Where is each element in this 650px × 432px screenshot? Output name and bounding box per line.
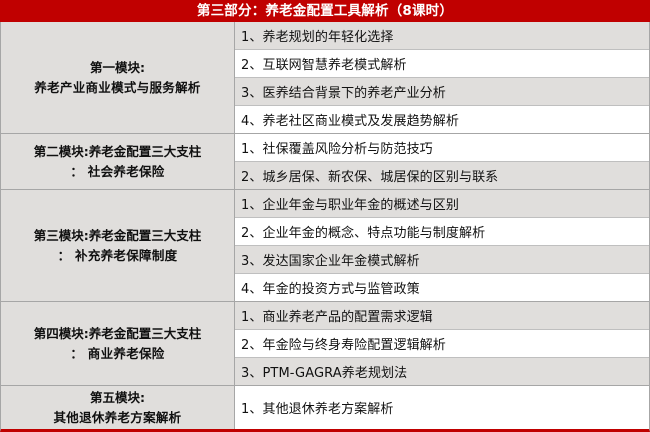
- module-label-line-1: 第四模块:养老金配置三大支柱: [34, 324, 202, 343]
- topic-text: 3、发达国家企业年金模式解析: [241, 250, 420, 269]
- topic-row: 2、年金险与终身寿险配置逻辑解析: [235, 330, 649, 358]
- topic-row: 3、发达国家企业年金模式解析: [235, 246, 649, 274]
- topic-text: 1、商业养老产品的配置需求逻辑: [241, 306, 433, 325]
- topic-text: 3、PTM-GAGRA养老规划法: [241, 362, 407, 381]
- module-topic-list: 1、社保覆盖风险分析与防范技巧2、城乡居保、新农保、城居保的区别与联系: [235, 134, 649, 189]
- topic-row: 4、年金的投资方式与监管政策: [235, 274, 649, 301]
- module-topic-list: 1、企业年金与职业年金的概述与区别2、企业年金的概念、特点功能与制度解析3、发达…: [235, 190, 649, 301]
- module-label-line-1: 第三模块:养老金配置三大支柱: [34, 226, 202, 245]
- module-label-line-1: 第二模块:养老金配置三大支柱: [34, 142, 202, 161]
- module-label-cell: 第三模块:养老金配置三大支柱： 补充养老保障制度: [1, 190, 235, 301]
- section-title-banner: 第三部分：养老金配置工具解析（8课时）: [0, 0, 650, 22]
- module-block: 第一模块:养老产业商业模式与服务解析1、养老规划的年轻化选择2、互联网智慧养老模…: [1, 22, 649, 134]
- topic-row: 1、养老规划的年轻化选择: [235, 22, 649, 50]
- topic-row: 1、社保覆盖风险分析与防范技巧: [235, 134, 649, 162]
- module-label-line-2: ： 商业养老保险: [70, 344, 164, 363]
- topic-text: 3、医养结合背景下的养老产业分析: [241, 82, 446, 101]
- topic-row: 3、PTM-GAGRA养老规划法: [235, 358, 649, 385]
- topic-text: 2、城乡居保、新农保、城居保的区别与联系: [241, 166, 498, 185]
- module-block: 第二模块:养老金配置三大支柱： 社会养老保险1、社保覆盖风险分析与防范技巧2、城…: [1, 134, 649, 190]
- module-label-line-2: 养老产业商业模式与服务解析: [34, 78, 200, 97]
- topic-row: 1、商业养老产品的配置需求逻辑: [235, 302, 649, 330]
- topic-text: 1、其他退休养老方案解析: [241, 398, 393, 417]
- module-label-cell: 第五模块:其他退休养老方案解析: [1, 386, 235, 429]
- topic-text: 4、养老社区商业模式及发展趋势解析: [241, 110, 459, 129]
- module-block: 第三模块:养老金配置三大支柱： 补充养老保障制度1、企业年金与职业年金的概述与区…: [1, 190, 649, 302]
- topic-text: 2、年金险与终身寿险配置逻辑解析: [241, 334, 446, 353]
- module-topic-list: 1、商业养老产品的配置需求逻辑2、年金险与终身寿险配置逻辑解析3、PTM-GAG…: [235, 302, 649, 385]
- topic-row: 2、城乡居保、新农保、城居保的区别与联系: [235, 162, 649, 189]
- module-label-line-2: 其他退休养老方案解析: [53, 408, 181, 427]
- topic-text: 1、养老规划的年轻化选择: [241, 26, 393, 45]
- topic-row: 1、企业年金与职业年金的概述与区别: [235, 190, 649, 218]
- module-label-cell: 第四模块:养老金配置三大支柱： 商业养老保险: [1, 302, 235, 385]
- topic-row: 2、互联网智慧养老模式解析: [235, 50, 649, 78]
- topic-text: 2、企业年金的概念、特点功能与制度解析: [241, 222, 485, 241]
- topic-text: 4、年金的投资方式与监管政策: [241, 278, 420, 297]
- module-label-cell: 第二模块:养老金配置三大支柱： 社会养老保险: [1, 134, 235, 189]
- course-outline-table: 第三部分：养老金配置工具解析（8课时） 第一模块:养老产业商业模式与服务解析1、…: [0, 0, 650, 432]
- topic-row: 1、其他退休养老方案解析: [235, 386, 649, 429]
- module-topic-list: 1、养老规划的年轻化选择2、互联网智慧养老模式解析3、医养结合背景下的养老产业分…: [235, 22, 649, 133]
- topic-row: 4、养老社区商业模式及发展趋势解析: [235, 106, 649, 133]
- module-label-cell: 第一模块:养老产业商业模式与服务解析: [1, 22, 235, 133]
- module-label-line-1: 第五模块:: [90, 388, 145, 407]
- topic-row: 2、企业年金的概念、特点功能与制度解析: [235, 218, 649, 246]
- module-label-line-2: ： 补充养老保障制度: [58, 246, 178, 265]
- topic-text: 2、互联网智慧养老模式解析: [241, 54, 407, 73]
- topic-text: 1、企业年金与职业年金的概述与区别: [241, 194, 459, 213]
- module-list: 第一模块:养老产业商业模式与服务解析1、养老规划的年轻化选择2、互联网智慧养老模…: [0, 22, 650, 432]
- module-block: 第五模块:其他退休养老方案解析1、其他退休养老方案解析: [1, 386, 649, 429]
- module-topic-list: 1、其他退休养老方案解析: [235, 386, 649, 429]
- module-block: 第四模块:养老金配置三大支柱： 商业养老保险1、商业养老产品的配置需求逻辑2、年…: [1, 302, 649, 386]
- topic-text: 1、社保覆盖风险分析与防范技巧: [241, 138, 433, 157]
- module-label-line-1: 第一模块:: [90, 58, 145, 77]
- module-label-line-2: ： 社会养老保险: [70, 162, 164, 181]
- topic-row: 3、医养结合背景下的养老产业分析: [235, 78, 649, 106]
